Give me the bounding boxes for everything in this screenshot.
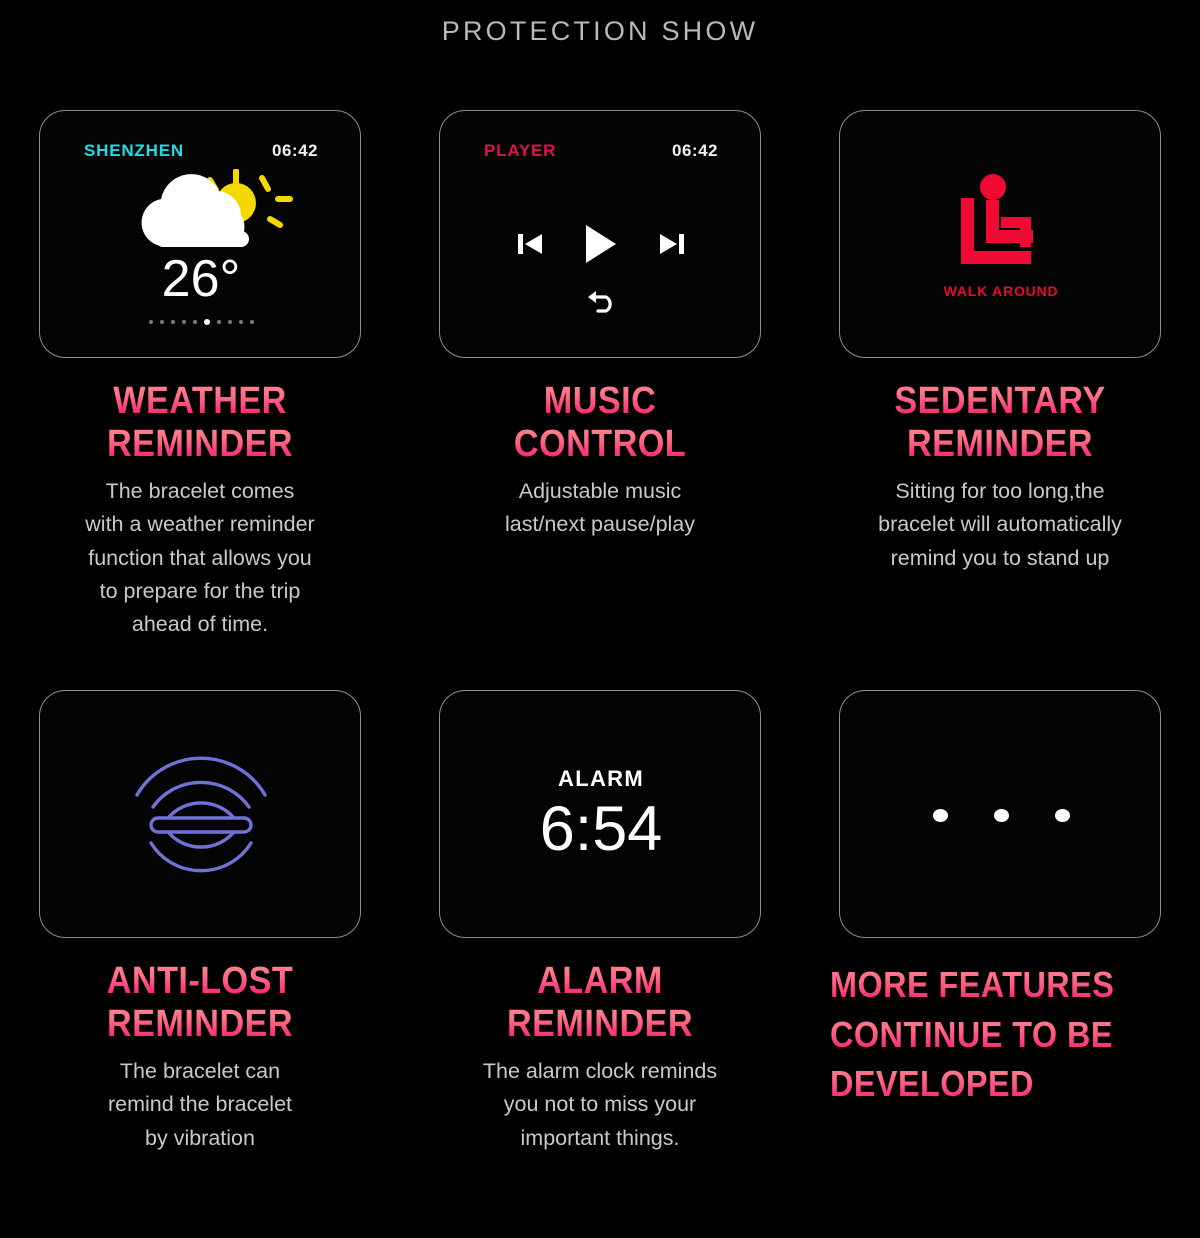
description-line: you not to miss your	[420, 1088, 780, 1121]
player-back-row	[440, 289, 761, 322]
vibration-content	[40, 691, 361, 938]
player-controls	[440, 223, 761, 270]
feature-card-alarm: ALARM 6:54 ALARM REMINDER The alarm cloc…	[400, 678, 800, 1238]
watch-screen-more[interactable]	[839, 690, 1161, 938]
weather-temperature: 26°	[40, 253, 361, 305]
caption-alarm: ALARM REMINDER The alarm clock reminds y…	[420, 960, 780, 1155]
feature-grid: SHENZHEN 06:42	[0, 98, 1200, 1238]
ellipsis-dot	[1055, 809, 1070, 822]
description-line: remind you to stand up	[820, 542, 1180, 575]
description-weather: The bracelet comes with a weather remind…	[20, 475, 380, 642]
heading-line: SEDENTARY	[838, 380, 1162, 423]
ellipsis-dot	[994, 809, 1009, 822]
description-line: bracelet will automatically	[820, 508, 1180, 541]
play-icon[interactable]	[583, 223, 619, 270]
description-line: remind the bracelet	[20, 1088, 380, 1121]
player-status-bar: PLAYER 06:42	[440, 141, 761, 161]
watch-screen-sedentary[interactable]: WALK AROUND	[839, 110, 1161, 358]
pager-dot	[160, 320, 164, 324]
protection-show-page: PROTECTION SHOW SHENZHEN 06:42	[0, 0, 1200, 1200]
sedentary-label: WALK AROUND	[944, 283, 1059, 299]
vibration-waves-icon	[131, 751, 271, 880]
feature-card-more: MORE FEATURES CONTINUE TO BE DEVELOPED	[800, 678, 1200, 1238]
description-line: ahead of time.	[20, 608, 380, 641]
description-line: function that allows you	[20, 542, 380, 575]
description-line: last/next pause/play	[420, 508, 780, 541]
description-alarm: The alarm clock reminds you not to miss …	[420, 1055, 780, 1155]
description-line: by vibration	[20, 1122, 380, 1155]
pager-dot	[149, 320, 153, 324]
caption-more: MORE FEATURES CONTINUE TO BE DEVELOPED	[830, 960, 1160, 1109]
ellipsis-icon	[840, 691, 1161, 938]
heading-line: REMINDER	[838, 423, 1162, 466]
sedentary-content: WALK AROUND	[840, 111, 1161, 358]
heading-line: REMINDER	[38, 1003, 362, 1046]
description-line: Adjustable music	[420, 475, 780, 508]
heading-line: ANTI-LOST	[38, 960, 362, 1003]
heading-line: CONTROL	[438, 423, 762, 466]
ellipsis-dot	[933, 809, 948, 822]
heading-music: MUSIC CONTROL	[438, 380, 762, 466]
heading-line: REMINDER	[438, 1003, 762, 1046]
feature-card-weather: SHENZHEN 06:42	[0, 98, 400, 678]
caption-weather: WEATHER REMINDER The bracelet comes with…	[20, 380, 380, 641]
feature-card-anti-lost: ANTI-LOST REMINDER The bracelet can remi…	[0, 678, 400, 1238]
sun-behind-cloud-icon	[40, 169, 361, 253]
description-sedentary: Sitting for too long,the bracelet will a…	[820, 475, 1180, 575]
watch-screen-alarm[interactable]: ALARM 6:54	[439, 690, 761, 938]
heading-line: CONTINUE TO BE	[830, 1010, 1127, 1060]
description-line: The alarm clock reminds	[420, 1055, 780, 1088]
weather-city-label: SHENZHEN	[84, 141, 184, 161]
watch-screen-player[interactable]: PLAYER 06:42	[439, 110, 761, 358]
previous-track-icon[interactable]	[517, 229, 545, 264]
heading-more: MORE FEATURES CONTINUE TO BE DEVELOPED	[830, 960, 1127, 1109]
description-line: The bracelet comes	[20, 475, 380, 508]
alarm-time: 6:54	[540, 794, 663, 864]
pager-dot	[239, 320, 243, 324]
description-line: Sitting for too long,the	[820, 475, 1180, 508]
description-anti-lost: The bracelet can remind the bracelet by …	[20, 1055, 380, 1155]
next-track-icon[interactable]	[657, 229, 685, 264]
heading-sedentary: SEDENTARY REMINDER	[838, 380, 1162, 466]
heading-alarm: ALARM REMINDER	[438, 960, 762, 1046]
heading-line: MUSIC	[438, 380, 762, 423]
caption-sedentary: SEDENTARY REMINDER Sitting for too long,…	[820, 380, 1180, 575]
description-line: to prepare for the trip	[20, 575, 380, 608]
alarm-content: ALARM 6:54	[440, 691, 761, 938]
pager-dot	[228, 320, 232, 324]
player-label: PLAYER	[484, 141, 556, 161]
watch-screen-weather[interactable]: SHENZHEN 06:42	[39, 110, 361, 358]
heading-line: DEVELOPED	[830, 1059, 1127, 1109]
pager-dot	[182, 320, 186, 324]
heading-line: MORE FEATURES	[830, 960, 1127, 1010]
description-line: The bracelet can	[20, 1055, 380, 1088]
pager-dot	[250, 320, 254, 324]
heading-line: REMINDER	[38, 423, 362, 466]
person-sitting-icon	[949, 172, 1053, 275]
description-line: important things.	[420, 1122, 780, 1155]
weather-page-indicator[interactable]	[40, 319, 361, 325]
caption-music: MUSIC CONTROL Adjustable music last/next…	[420, 380, 780, 542]
weather-status-bar: SHENZHEN 06:42	[40, 141, 361, 161]
heading-line: ALARM	[438, 960, 762, 1003]
alarm-label: ALARM	[558, 766, 644, 792]
description-line: with a weather reminder	[20, 508, 380, 541]
page-title: PROTECTION SHOW	[0, 16, 1200, 47]
caption-anti-lost: ANTI-LOST REMINDER The bracelet can remi…	[20, 960, 380, 1155]
feature-card-sedentary: WALK AROUND SEDENTARY REMINDER Sitting f…	[800, 98, 1200, 678]
pager-dot-active	[204, 319, 210, 325]
player-time: 06:42	[672, 141, 718, 161]
pager-dot	[171, 320, 175, 324]
pager-dot	[193, 320, 197, 324]
heading-weather: WEATHER REMINDER	[38, 380, 362, 466]
watch-screen-vibration[interactable]	[39, 690, 361, 938]
pager-dot	[217, 320, 221, 324]
weather-time: 06:42	[272, 141, 318, 161]
description-music: Adjustable music last/next pause/play	[420, 475, 780, 542]
back-arrow-icon[interactable]	[584, 289, 618, 322]
feature-card-music: PLAYER 06:42	[400, 98, 800, 678]
heading-anti-lost: ANTI-LOST REMINDER	[38, 960, 362, 1046]
heading-line: WEATHER	[38, 380, 362, 423]
